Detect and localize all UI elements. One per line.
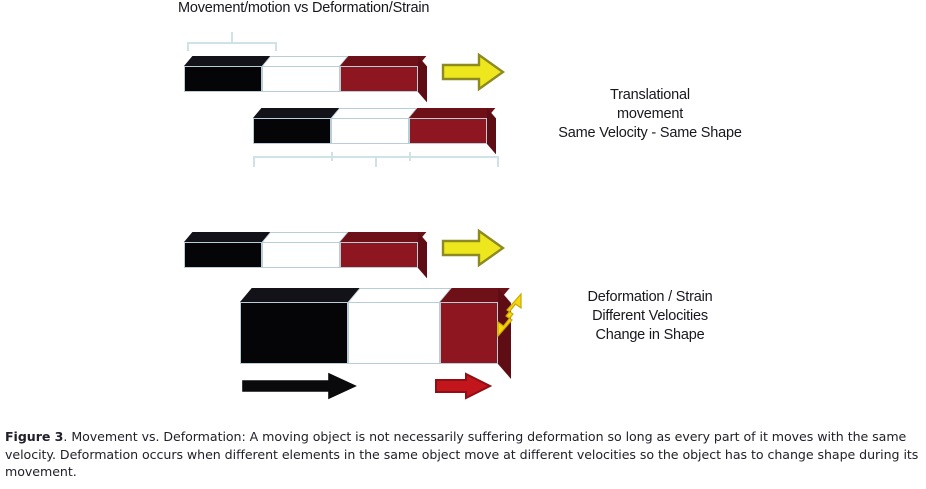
bar-segment-red <box>409 108 487 144</box>
figure-3-illustration: Movement/motion vs Deformation/Strain <box>0 0 926 418</box>
label-deformation-strain: Deformation / Strain Different Velocitie… <box>522 288 778 345</box>
bar-segment-black <box>240 288 348 364</box>
label-line-3: Same Velocity - Same Shape <box>522 124 778 143</box>
diagram-title: Movement/motion vs Deformation/Strain <box>178 0 429 16</box>
bar-segment-white <box>262 232 340 268</box>
label-line-3: Change in Shape <box>522 326 778 345</box>
black-velocity-arrow <box>241 372 357 400</box>
bar-deformation-deformed <box>240 288 520 364</box>
bar-segment-black <box>184 56 262 92</box>
yellow-motion-arrow <box>441 52 505 92</box>
label-translational-movement: Translational movement Same Velocity - S… <box>522 86 778 143</box>
yellow-motion-arrow <box>441 228 505 268</box>
measure-bracket-top <box>187 32 277 50</box>
bar-translational-after <box>253 108 509 144</box>
measure-ruler-bottom <box>253 152 499 168</box>
red-velocity-arrow <box>434 372 492 400</box>
bar-segment-black <box>253 108 331 144</box>
figure-caption-label: Figure 3 <box>5 429 63 444</box>
bar-segment-red <box>340 232 418 268</box>
label-line-2: movement <box>522 105 778 124</box>
bar-segment-red <box>340 56 418 92</box>
bar-segment-white <box>331 108 409 144</box>
label-line-1: Deformation / Strain <box>522 288 778 307</box>
bar-deformation-before <box>184 232 440 268</box>
bar-segment-white <box>262 56 340 92</box>
bar-segment-black <box>184 232 262 268</box>
bar-translational-before <box>184 56 440 92</box>
label-line-2: Different Velocities <box>522 307 778 326</box>
figure-caption-text: . Movement vs. Deformation: A moving obj… <box>5 429 918 479</box>
figure-caption: Figure 3. Movement vs. Deformation: A mo… <box>5 428 921 481</box>
label-line-1: Translational <box>522 86 778 105</box>
yellow-stretch-zigzag-icon <box>487 292 527 338</box>
bar-segment-white <box>348 288 440 364</box>
